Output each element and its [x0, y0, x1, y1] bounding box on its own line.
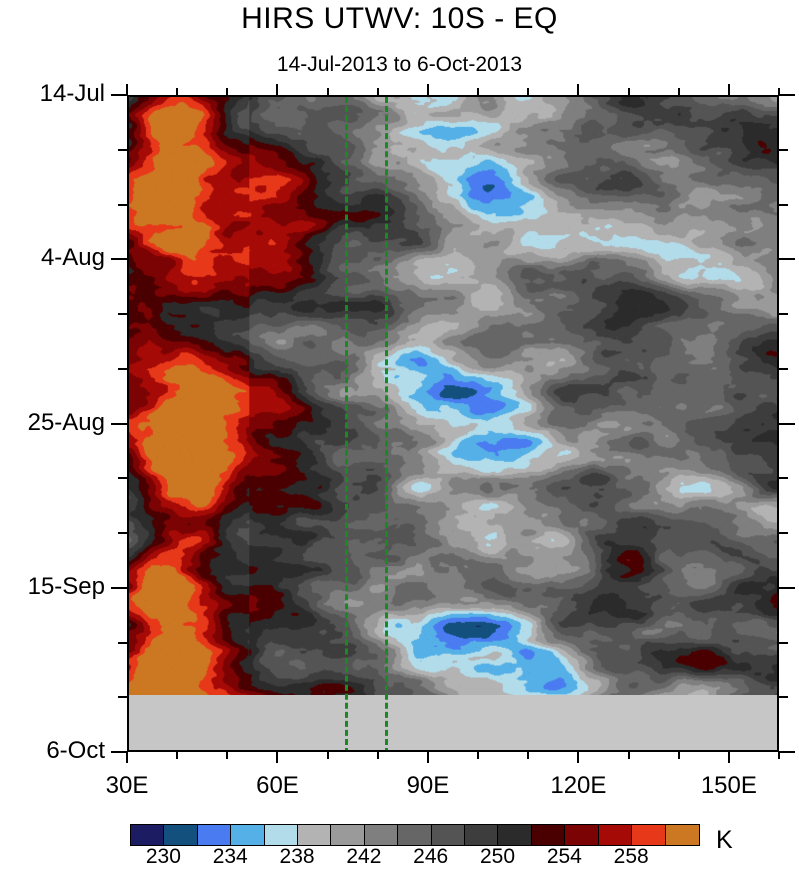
axis-tick: [678, 88, 680, 95]
colorbar-cell[interactable]: [198, 825, 231, 845]
y-tick-label: 14-Jul: [0, 80, 105, 108]
colorbar-cell[interactable]: [131, 825, 164, 845]
axis-tick: [276, 84, 278, 95]
axis-tick: [118, 477, 127, 479]
axis-tick: [779, 149, 788, 151]
colorbar-cell[interactable]: [632, 825, 665, 845]
axis-tick: [477, 88, 479, 95]
axis-tick: [118, 204, 127, 206]
axis-tick: [118, 149, 127, 151]
axis-tick: [728, 752, 730, 763]
x-tick-label: 60E: [232, 772, 322, 800]
x-tick-label: 150E: [684, 772, 774, 800]
axis-tick: [118, 313, 127, 315]
axis-tick: [226, 752, 228, 759]
axis-tick: [628, 88, 630, 95]
figure-subtitle: 14-Jul-2013 to 6-Oct-2013: [0, 53, 799, 77]
axis-tick: [111, 423, 127, 425]
marker-line-east: [385, 97, 388, 752]
axis-tick: [118, 696, 127, 698]
axis-tick: [427, 752, 429, 763]
axis-tick: [377, 752, 379, 759]
axis-tick: [118, 532, 127, 534]
axis-tick: [327, 752, 329, 759]
axis-tick: [779, 532, 788, 534]
axis-tick: [477, 752, 479, 759]
page-title: HIRS UTWV: 10S - EQ: [0, 2, 799, 36]
axis-tick: [779, 751, 795, 753]
x-tick-label: 90E: [383, 772, 473, 800]
plot-area: [127, 95, 779, 752]
colorbar-tick-label: 258: [591, 845, 671, 869]
colorbar-cell[interactable]: [532, 825, 565, 845]
axis-tick: [779, 204, 788, 206]
axis-tick: [779, 587, 795, 589]
axis-tick: [176, 752, 178, 759]
colorbar-cell[interactable]: [465, 825, 498, 845]
axis-tick: [176, 88, 178, 95]
colorbar-cell[interactable]: [398, 825, 431, 845]
axis-tick: [226, 88, 228, 95]
axis-tick: [779, 94, 795, 96]
colorbar-cell[interactable]: [164, 825, 197, 845]
axis-tick: [111, 751, 127, 753]
colorbar-unit-label: K: [716, 826, 733, 855]
axis-tick: [276, 752, 278, 763]
colorbar-cell[interactable]: [599, 825, 632, 845]
axis-tick: [779, 368, 788, 370]
axis-tick: [779, 642, 788, 644]
colorbar-cell[interactable]: [666, 825, 699, 845]
y-tick-label: 6-Oct: [0, 737, 105, 765]
axis-tick: [577, 84, 579, 95]
missing-data-band: [129, 695, 777, 750]
axis-tick: [779, 258, 795, 260]
colorbar[interactable]: [130, 824, 700, 846]
axis-tick: [779, 313, 788, 315]
x-tick-label: 30E: [82, 772, 172, 800]
axis-tick: [728, 84, 730, 95]
axis-tick: [779, 477, 788, 479]
colorbar-cell[interactable]: [298, 825, 331, 845]
axis-tick: [126, 752, 128, 763]
axis-tick: [779, 696, 788, 698]
axis-tick: [778, 752, 780, 759]
colorbar-cell[interactable]: [365, 825, 398, 845]
contour-field: [129, 97, 777, 750]
colorbar-cell[interactable]: [331, 825, 364, 845]
axis-tick: [377, 88, 379, 95]
y-tick-label: 4-Aug: [0, 244, 105, 272]
axis-tick: [678, 752, 680, 759]
colorbar-cell[interactable]: [565, 825, 598, 845]
marker-line-west: [345, 97, 348, 752]
hovmoller-figure: HIRS UTWV: 10S - EQ 14-Jul-2013 to 6-Oct…: [0, 0, 799, 864]
axis-tick: [577, 752, 579, 763]
axis-tick: [118, 642, 127, 644]
colorbar-cell[interactable]: [498, 825, 531, 845]
axis-tick: [118, 368, 127, 370]
axis-tick: [779, 423, 795, 425]
x-tick-label: 120E: [533, 772, 623, 800]
axis-tick: [527, 88, 529, 95]
y-tick-label: 15-Sep: [0, 573, 105, 601]
axis-tick: [111, 587, 127, 589]
colorbar-cell[interactable]: [231, 825, 264, 845]
axis-tick: [327, 88, 329, 95]
y-tick-label: 25-Aug: [0, 409, 105, 437]
axis-tick: [427, 84, 429, 95]
colorbar-cell[interactable]: [432, 825, 465, 845]
axis-tick: [111, 258, 127, 260]
axis-tick: [111, 94, 127, 96]
colorbar-cell[interactable]: [265, 825, 298, 845]
axis-tick: [527, 752, 529, 759]
axis-tick: [628, 752, 630, 759]
